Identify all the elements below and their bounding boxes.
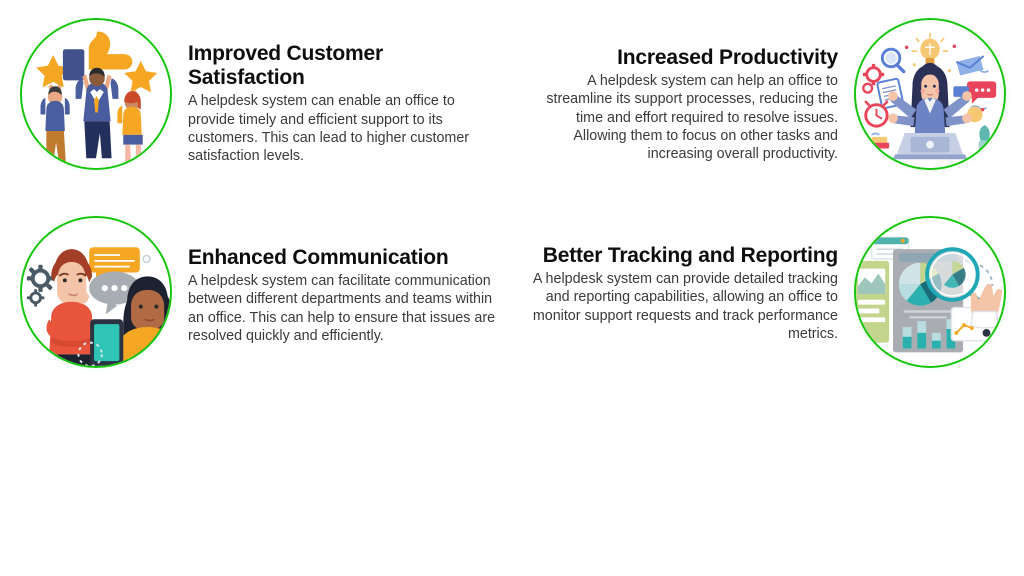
card-text-block: Improved Customer Satisfaction A helpdes… [176,14,508,165]
card-text-block: Better Tracking and Reporting A helpdesk… [516,212,850,343]
illustration-frame [16,14,176,174]
illustration-frame [16,212,176,372]
analytics-dashboard-magnifier-icon [854,216,1006,368]
card-body: A helpdesk system can help an office to … [522,72,838,163]
benefit-card-better-tracking-and-reporting: Better Tracking and Reporting A helpdesk… [516,212,1010,372]
card-title: Better Tracking and Reporting [522,244,838,268]
benefit-card-increased-productivity: Increased Productivity A helpdesk system… [516,14,1010,174]
benefit-card-improved-customer-satisfaction: Improved Customer Satisfaction A helpdes… [16,14,508,174]
card-title: Increased Productivity [522,46,838,70]
card-text-block: Enhanced Communication A helpdesk system… [176,212,508,345]
two-people-chat-bubbles-icon [20,216,172,368]
multitasking-woman-with-laptop-icon [854,18,1006,170]
card-body: A helpdesk system can facilitate communi… [188,272,502,345]
card-title: Enhanced Communication [188,246,502,270]
benefit-card-enhanced-communication: Enhanced Communication A helpdesk system… [16,212,508,372]
card-title: Improved Customer Satisfaction [188,42,502,90]
illustration-frame [850,212,1010,372]
people-holding-thumbs-up-and-stars-icon [20,18,172,170]
card-text-block: Increased Productivity A helpdesk system… [516,14,850,164]
infographic-slide: Improved Customer Satisfaction A helpdes… [0,0,1024,576]
card-body: A helpdesk system can provide detailed t… [522,270,838,343]
illustration-frame [850,14,1010,174]
card-body: A helpdesk system can enable an office t… [188,92,502,165]
